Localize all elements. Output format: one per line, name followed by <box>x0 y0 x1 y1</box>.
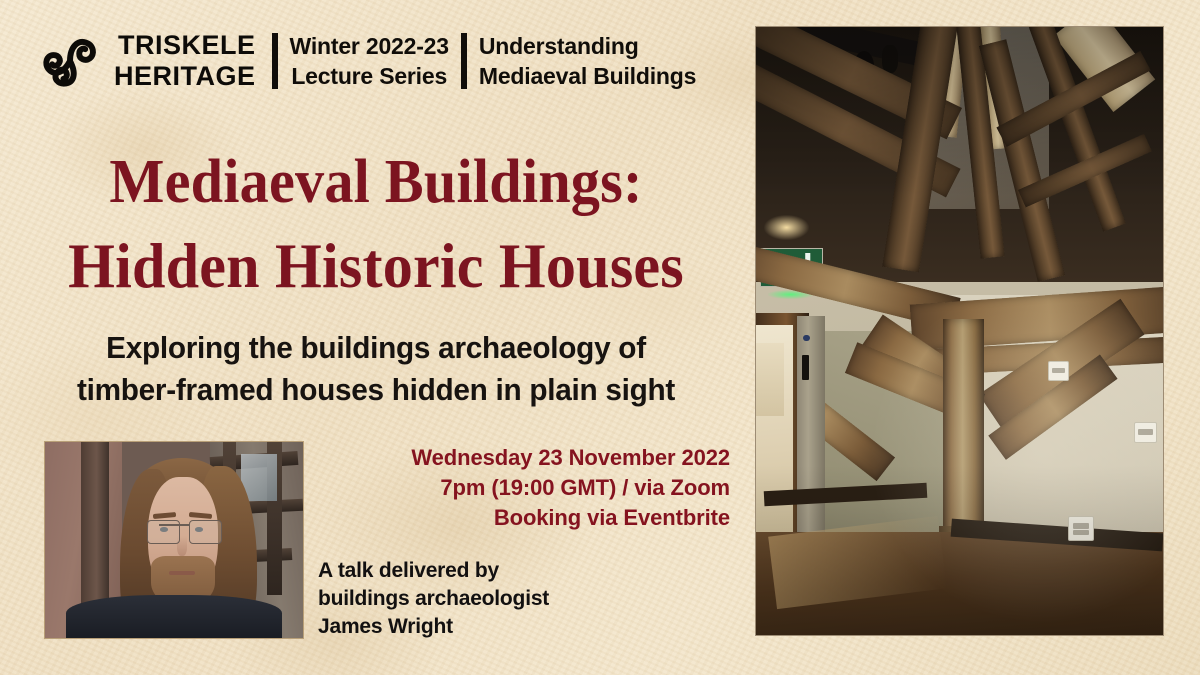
brand-name-line2: HERITAGE <box>114 61 256 91</box>
portrait-lens <box>189 520 222 544</box>
event-time: 7pm (19:00 GMT) / via Zoom <box>330 473 730 503</box>
speaker-credit: A talk delivered by buildings archaeolog… <box>318 557 549 641</box>
event-booking: Booking via Eventbrite <box>330 503 730 533</box>
header-divider-2 <box>461 33 467 89</box>
power-socket-icon <box>1068 516 1094 540</box>
series-line1: Winter 2022-23 <box>290 33 449 59</box>
title-line1: Mediaeval Buildings: <box>109 148 642 216</box>
light-switch-icon <box>1134 422 1157 443</box>
speaker-portrait-photo <box>44 441 304 639</box>
doorway-stonework <box>756 343 784 416</box>
timber-frame-photo <box>755 26 1164 636</box>
portrait-glasses-bridge <box>159 524 190 526</box>
credit-line1: A talk delivered by <box>318 557 549 585</box>
portrait-scene <box>45 442 303 638</box>
credit-line3: James Wright <box>318 613 549 641</box>
series-line2: Lecture Series <box>290 61 449 91</box>
event-details: Wednesday 23 November 2022 7pm (19:00 GM… <box>330 443 730 533</box>
light-switch-icon <box>1048 361 1069 380</box>
brand-name-line1: TRISKELE <box>118 30 256 60</box>
topic-line2: Mediaeval Buildings <box>479 61 696 91</box>
header-bar: TRISKELE HERITAGE Winter 2022-23 Lecture… <box>36 28 696 94</box>
portrait-jacket <box>66 595 283 638</box>
topic-line1: Understanding <box>479 33 639 59</box>
door-handle <box>802 355 809 379</box>
lecture-topic-label: Understanding Mediaeval Buildings <box>479 31 696 91</box>
lecture-series-label: Winter 2022-23 Lecture Series <box>290 31 449 91</box>
credit-line2: buildings archaeologist <box>318 585 549 613</box>
page-subtitle: Exploring the buildings archaeology of t… <box>15 327 737 411</box>
triskele-spiral-icon <box>36 28 104 94</box>
door-indicator <box>803 335 810 342</box>
poster-canvas: TRISKELE HERITAGE Winter 2022-23 Lecture… <box>0 0 1200 675</box>
subtitle-line2: timber-framed houses hidden in plain sig… <box>15 369 737 411</box>
header-divider-1 <box>272 33 278 89</box>
page-title: Mediaeval Buildings: Hidden Historic Hou… <box>23 140 730 308</box>
brand-wordmark: TRISKELE HERITAGE <box>114 30 260 92</box>
title-line2: Hidden Historic Houses <box>23 224 730 308</box>
event-date: Wednesday 23 November 2022 <box>330 443 730 473</box>
portrait-mouth <box>169 571 195 575</box>
ceiling-light-glow <box>764 215 809 239</box>
subtitle-line1: Exploring the buildings archaeology of <box>106 330 646 365</box>
spotlight-icon <box>882 45 898 72</box>
